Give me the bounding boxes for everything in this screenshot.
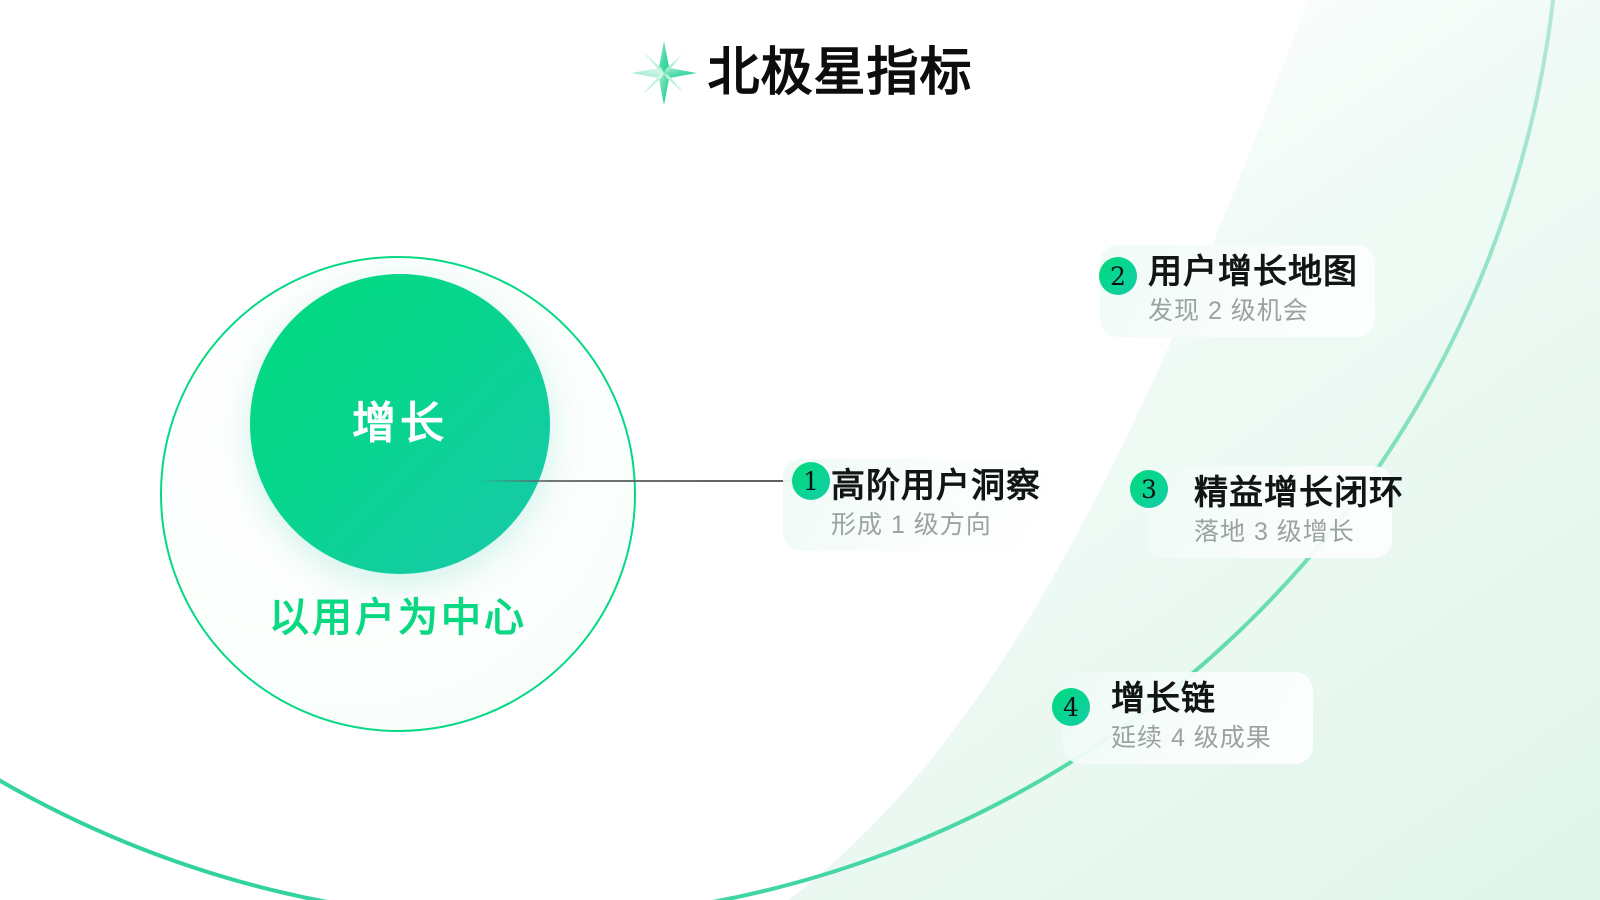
step-badge-3[interactable]: 3 bbox=[1130, 470, 1168, 508]
hub-core-label: 增长 bbox=[352, 402, 448, 446]
north-star-icon bbox=[627, 36, 701, 110]
step-card-2[interactable]: 用户增长地图 发现 2 级机会 bbox=[1100, 245, 1375, 337]
step-card-title: 用户增长地图 bbox=[1148, 252, 1353, 292]
step-card-4[interactable]: 增长链 延续 4 级成果 bbox=[1063, 672, 1313, 764]
step-card-subtitle: 发现 2 级机会 bbox=[1148, 296, 1353, 326]
page-title: 北极星指标 bbox=[707, 47, 972, 99]
step-badge-1[interactable]: 1 bbox=[792, 462, 830, 500]
step-card-3[interactable]: 精益增长闭环 落地 3 级增长 bbox=[1146, 466, 1392, 558]
step-badge-2[interactable]: 2 bbox=[1099, 257, 1137, 295]
page-title-row: 北极星指标 bbox=[0, 36, 1600, 110]
step-card-subtitle: 落地 3 级增长 bbox=[1194, 517, 1370, 547]
step-card-title: 高阶用户洞察 bbox=[831, 466, 1023, 506]
hub-caption: 以用户为中心 bbox=[160, 598, 636, 638]
step-card-title: 增长链 bbox=[1111, 679, 1291, 719]
central-hub: 增长 以用户为中心 bbox=[160, 256, 640, 736]
step-card-subtitle: 延续 4 级成果 bbox=[1111, 723, 1291, 753]
hub-to-card-connector bbox=[478, 480, 800, 482]
step-card-subtitle: 形成 1 级方向 bbox=[831, 510, 1023, 540]
step-card-title: 精益增长闭环 bbox=[1194, 473, 1370, 513]
step-badge-4[interactable]: 4 bbox=[1052, 688, 1090, 726]
north-star-metric-diagram: 北极星指标 增长 以用户为中心 高阶用户洞察 形成 1 级方向 1 用户增长地图… bbox=[0, 0, 1600, 900]
hub-core-circle: 增长 bbox=[250, 274, 550, 574]
